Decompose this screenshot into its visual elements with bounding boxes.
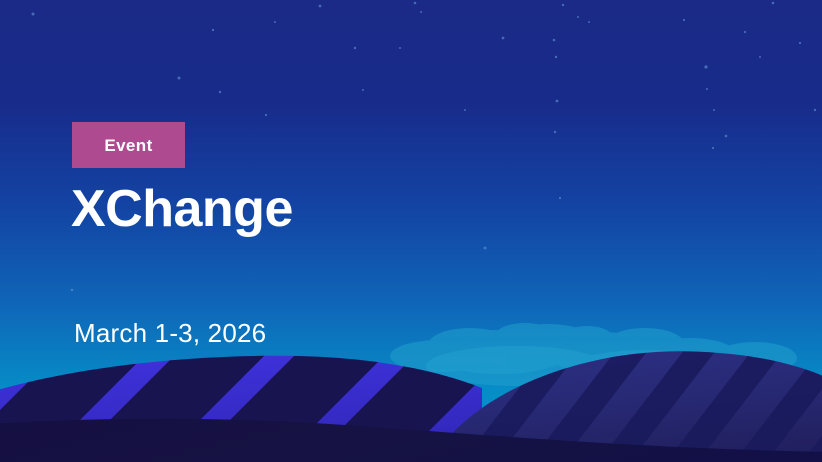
banner-content: Event XChange March 1-3, 2026 xyxy=(0,0,822,462)
event-banner: Event XChange March 1-3, 2026 xyxy=(0,0,822,462)
event-badge-label: Event xyxy=(104,137,152,154)
event-date: March 1-3, 2026 xyxy=(74,318,266,349)
event-badge: Event xyxy=(72,122,185,168)
page-title: XChange xyxy=(71,180,293,238)
